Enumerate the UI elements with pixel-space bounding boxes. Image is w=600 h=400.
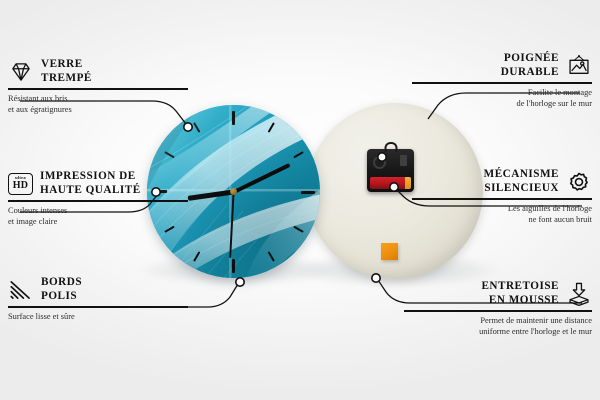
feature-description: Surface lisse et sûre [8, 311, 188, 322]
feature-title: MÉCANISMESILENCIEUX [484, 168, 559, 195]
foam-spacer-icon [566, 281, 592, 307]
feature-header: ultra HD IMPRESSION DEHAUTE QUALITÉ [8, 170, 188, 197]
feature-header: BORDSPOLIS [8, 276, 188, 303]
feature-mecanisme-silencieux: MÉCANISMESILENCIEUX Les aiguilles de l'h… [412, 168, 592, 225]
feature-divider [8, 88, 188, 90]
beveled-edge-icon [8, 277, 34, 303]
diamond-icon [8, 59, 34, 85]
feature-divider [412, 198, 592, 200]
battery [370, 177, 411, 189]
infographic-canvas: VERRETREMPÉ Résistant aux bris et aux ég… [0, 0, 600, 400]
feature-title: ENTRETOISEEN MOUSSE [481, 280, 559, 307]
hands-center-cap [230, 188, 237, 195]
foam-spacer-pad [381, 243, 398, 260]
feature-description: Facilite le montage de l'horloge sur le … [412, 87, 592, 109]
feature-header: MÉCANISMESILENCIEUX [412, 168, 592, 195]
ultra-hd-badge-bottom: HD [13, 181, 29, 191]
feature-title: BORDSPOLIS [41, 276, 82, 303]
hanger-loop-icon [384, 142, 397, 152]
feature-title: VERRETREMPÉ [41, 58, 92, 85]
feature-entretoise-en-mousse: ENTRETOISEEN MOUSSE Permet de maintenir … [404, 280, 592, 337]
feature-divider [404, 310, 592, 312]
feature-poignee-durable: POIGNÉEDURABLE Facilite le montage de l'… [412, 52, 592, 109]
ultra-hd-badge-icon: ultra HD [8, 173, 33, 195]
mechanism-dial [373, 156, 386, 169]
feature-bords-polis: BORDSPOLIS Surface lisse et sûre [8, 276, 188, 322]
feature-divider [412, 82, 592, 84]
quartz-mechanism [367, 149, 414, 192]
gear-icon [566, 169, 592, 195]
feature-description: Résistant aux bris et aux égratignures [8, 93, 188, 115]
feature-header: VERRETREMPÉ [8, 58, 188, 85]
feature-header: ENTRETOISEEN MOUSSE [404, 280, 592, 307]
hanging-picture-icon [566, 53, 592, 79]
feature-description: Couleurs intenses et image claire [8, 205, 188, 227]
feature-title: IMPRESSION DEHAUTE QUALITÉ [40, 170, 141, 197]
battery-terminal [405, 177, 411, 189]
feature-divider [8, 200, 188, 202]
feature-verre-trempe: VERRETREMPÉ Résistant aux bris et aux ég… [8, 58, 188, 115]
feature-title: POIGNÉEDURABLE [501, 52, 559, 79]
feature-description: Les aiguilles de l'horloge ne font aucun… [412, 203, 592, 225]
feature-description: Permet de maintenir une distance uniform… [404, 315, 592, 337]
feature-divider [8, 306, 188, 308]
mechanism-slot [400, 155, 407, 166]
feature-impression-haute-qualite: ultra HD IMPRESSION DEHAUTE QUALITÉ Coul… [8, 170, 188, 227]
feature-header: POIGNÉEDURABLE [412, 52, 592, 79]
